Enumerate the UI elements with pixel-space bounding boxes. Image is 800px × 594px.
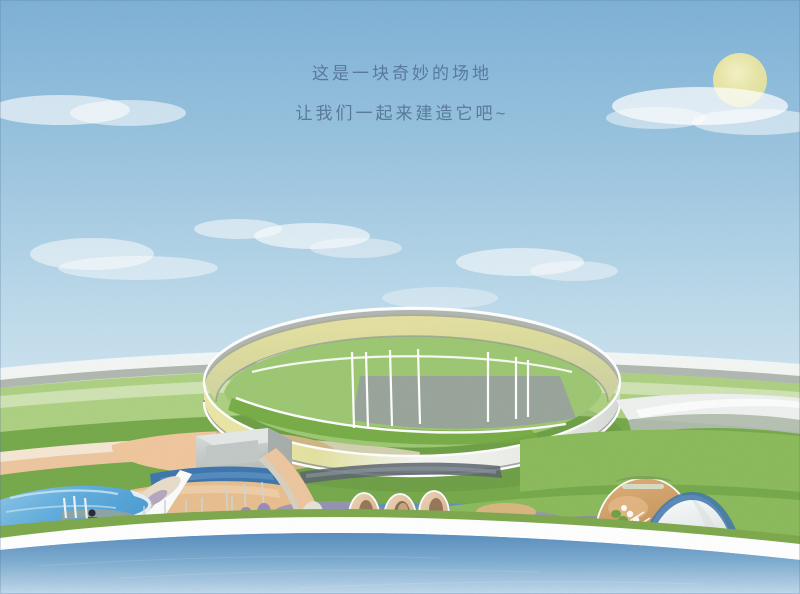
site-illustration: 这是一块奇妙的场地 让我们一起来建造它吧~ [0, 0, 800, 594]
paper-texture-overlay [0, 0, 800, 594]
illustration-canvas: 这是一块奇妙的场地 让我们一起来建造它吧~ [0, 0, 800, 594]
